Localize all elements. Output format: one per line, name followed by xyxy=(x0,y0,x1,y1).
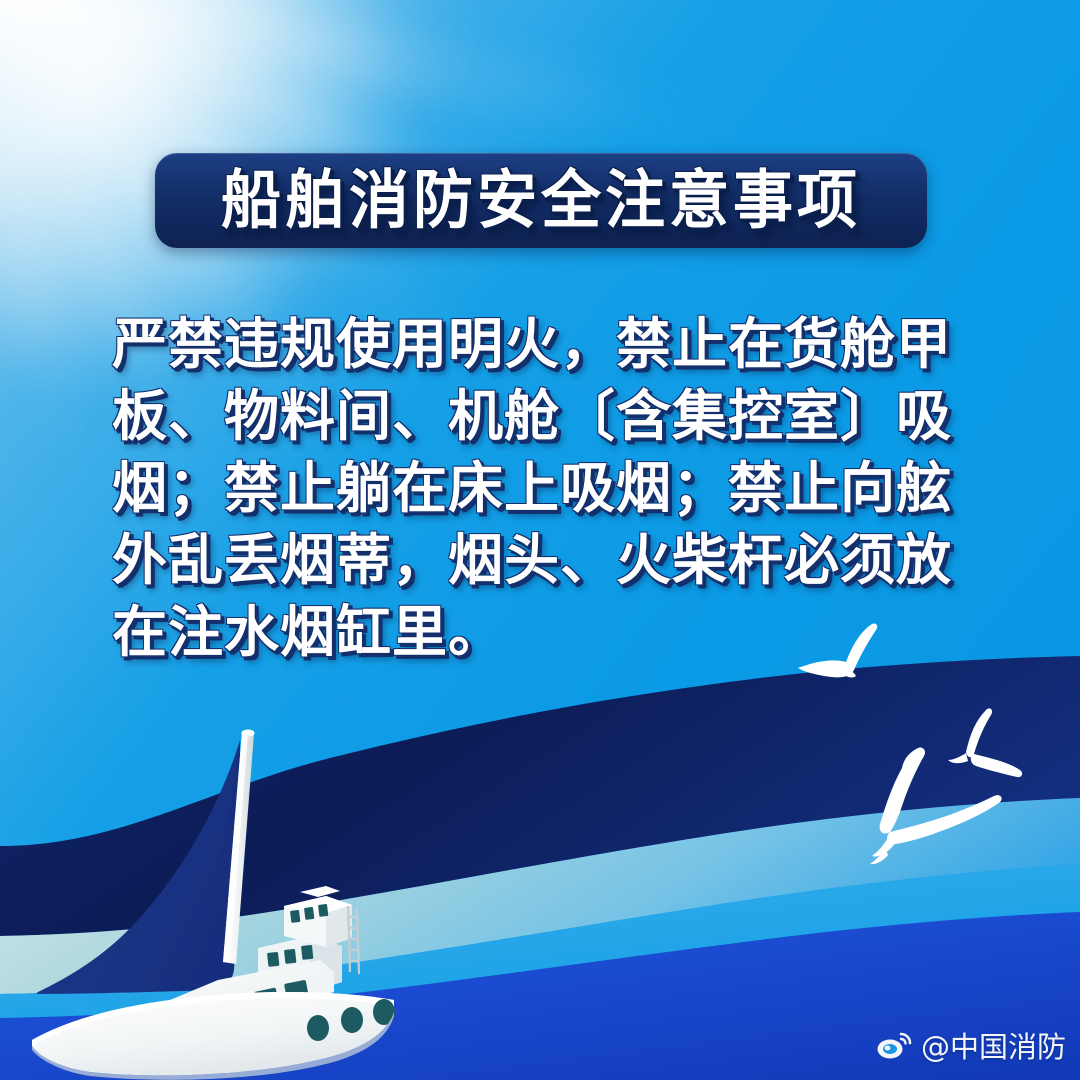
boat-hull xyxy=(32,992,395,1080)
body-text-block: 严禁违规使用明火，禁止在货舱甲 板、物料间、机舱〔含集控室〕吸 烟；禁止躺在床上… xyxy=(112,308,992,668)
poster-canvas: 船舶消防安全注意事项 严禁违规使用明火，禁止在货舱甲 板、物料间、机舱〔含集控室… xyxy=(0,0,1080,1080)
weibo-logo-icon xyxy=(877,1030,913,1060)
watermark: @中国消防 xyxy=(877,1024,1066,1066)
dark-navy-sail xyxy=(36,740,240,994)
title-banner: 船舶消防安全注意事项 xyxy=(155,153,927,248)
body-text-line: 严禁违规使用明火，禁止在货舱甲 xyxy=(112,308,992,380)
body-text-line: 在注水烟缸里。 xyxy=(112,596,992,668)
sailboat-illustration xyxy=(18,710,438,1080)
body-text-line: 外乱丢烟蒂，烟头、火柴杆必须放 xyxy=(112,524,992,596)
light-ray xyxy=(0,0,509,13)
seagull xyxy=(948,708,1022,777)
light-ray xyxy=(0,0,91,477)
body-text-line: 烟；禁止躺在床上吸烟；禁止向舷 xyxy=(112,452,992,524)
light-ray xyxy=(0,0,720,157)
bridge-ladder xyxy=(348,906,359,974)
page-title: 船舶消防安全注意事项 xyxy=(221,169,861,233)
light-ray xyxy=(0,0,303,293)
body-text-line: 板、物料间、机舱〔含集控室〕吸 xyxy=(112,380,992,452)
watermark-handle: @中国消防 xyxy=(921,1024,1066,1066)
